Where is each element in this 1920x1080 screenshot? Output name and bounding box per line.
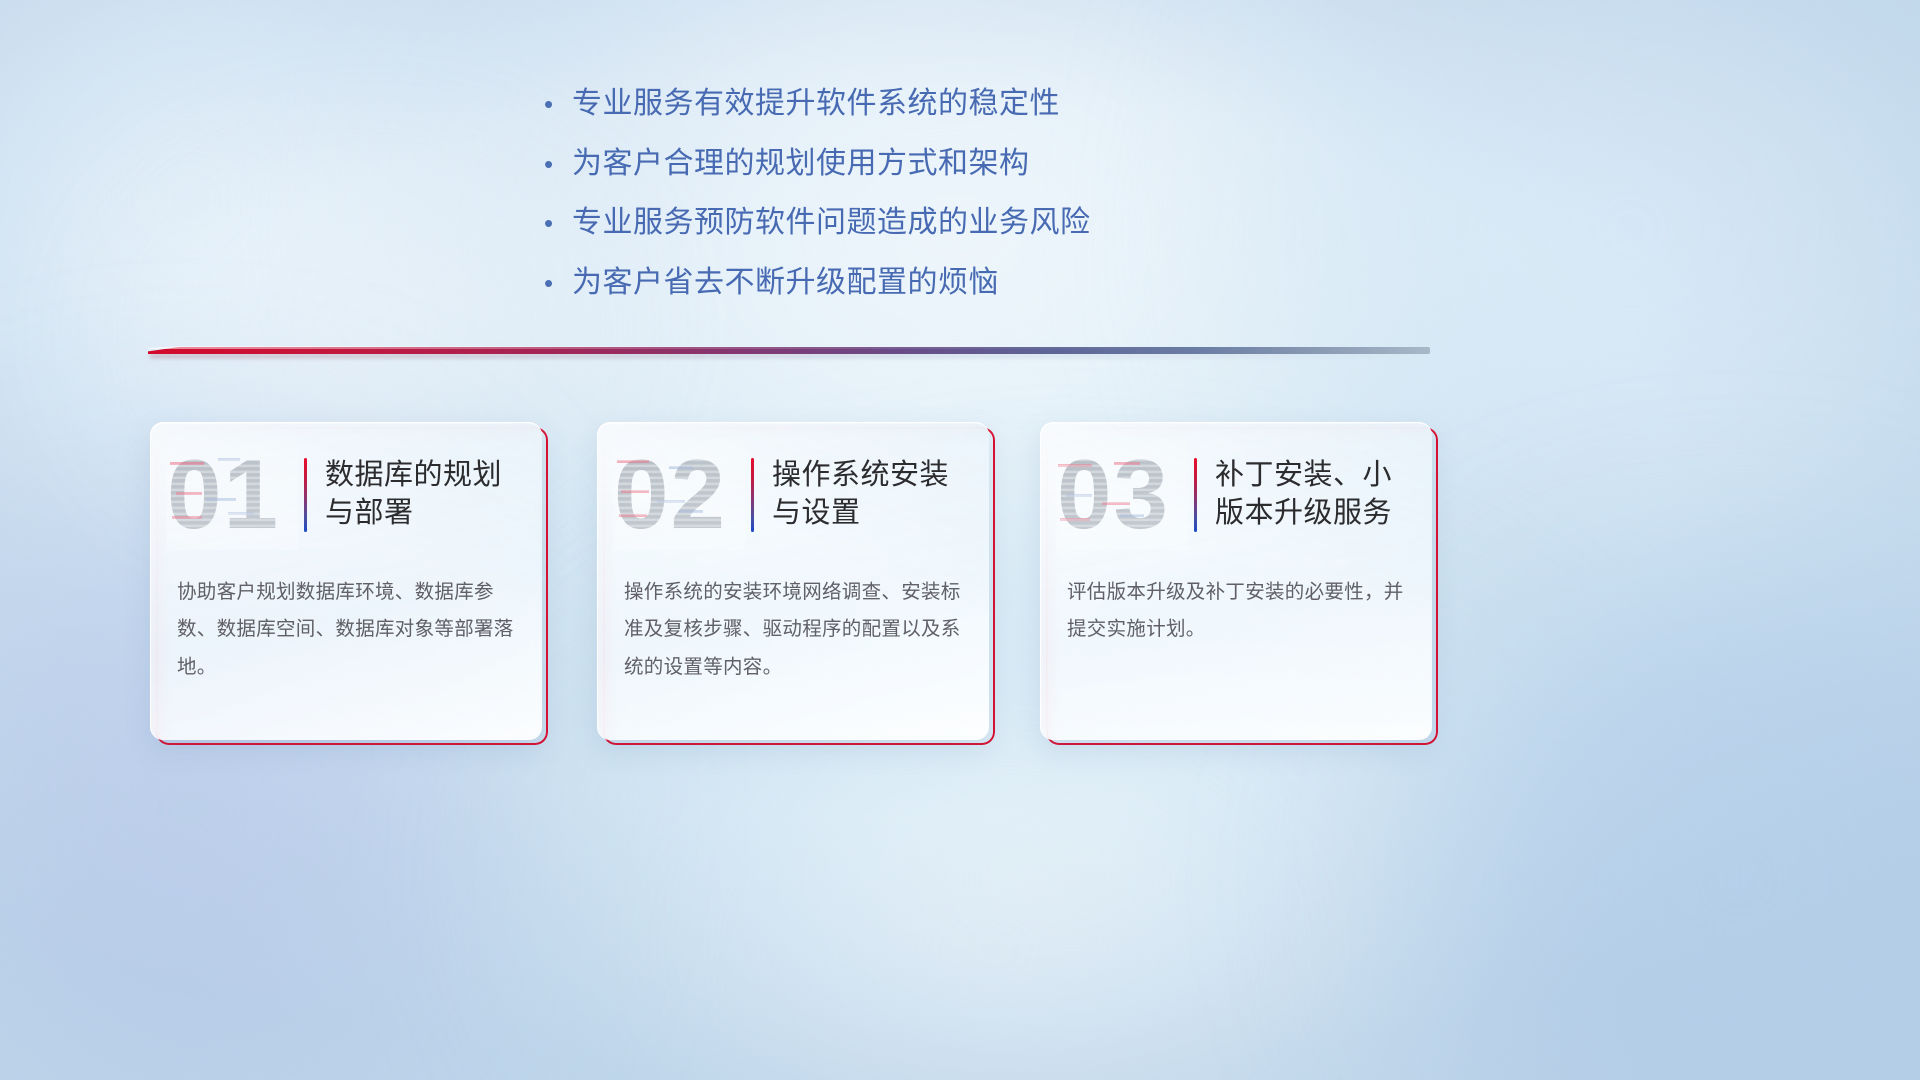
bullet-text: 为客户省去不断升级配置的烦恼 <box>572 265 999 302</box>
card-number-01-striped: 01 <box>166 440 298 550</box>
divider-shadow <box>150 354 1430 358</box>
card-description: 操作系统的安装环境网络调查、安装标准及复核步骤、驱动程序的配置以及系统的设置等内… <box>624 574 962 686</box>
bullet-dot-icon: • <box>528 151 572 177</box>
card-title-line-2: 与设置 <box>772 497 861 529</box>
slide-canvas: • 专业服务有效提升软件系统的稳定性 • 为客户合理的规划使用方式和架构 • 专… <box>0 0 1920 1080</box>
card-title: 数据库的规划 与部署 <box>325 457 502 532</box>
card-accent-bar <box>1194 458 1197 532</box>
card-title-line-1: 数据库的规划 <box>325 459 502 491</box>
list-item: • 专业服务有效提升软件系统的稳定性 <box>528 86 1428 123</box>
bullet-text: 专业服务预防软件问题造成的业务风险 <box>572 205 1091 242</box>
card-header: 01 数据库的规划 <box>150 434 542 556</box>
card-number-02-striped: 02 <box>613 440 745 550</box>
list-item: • 为客户合理的规划使用方式和架构 <box>528 146 1428 183</box>
service-card-group: 01 数据库的规划 <box>150 422 1770 752</box>
list-item: • 专业服务预防软件问题造成的业务风险 <box>528 205 1428 242</box>
card-title-line-2: 版本升级服务 <box>1215 497 1392 529</box>
service-card-01[interactable]: 01 数据库的规划 <box>150 422 542 740</box>
card-number-03-striped: 03 <box>1056 440 1188 550</box>
service-card-03[interactable]: 03 补丁安装、小 <box>1040 422 1432 740</box>
bullet-dot-icon: • <box>528 91 572 117</box>
divider-highlight <box>148 346 1430 349</box>
card-title-line-1: 操作系统安装 <box>772 459 949 491</box>
bullet-dot-icon: • <box>528 270 572 296</box>
bullet-dot-icon: • <box>528 210 572 236</box>
card-header: 03 补丁安装、小 <box>1040 434 1432 556</box>
card-title-line-2: 与部署 <box>325 497 414 529</box>
service-card-02[interactable]: 02 操作系统安装 <box>597 422 989 740</box>
card-title: 操作系统安装 与设置 <box>772 457 949 532</box>
bullet-text: 为客户合理的规划使用方式和架构 <box>572 146 1030 183</box>
card-accent-bar <box>304 458 307 532</box>
section-divider <box>148 341 1448 361</box>
bullet-text: 专业服务有效提升软件系统的稳定性 <box>572 86 1060 123</box>
benefits-bullet-list: • 专业服务有效提升软件系统的稳定性 • 为客户合理的规划使用方式和架构 • 专… <box>528 86 1428 324</box>
card-accent-bar <box>751 458 754 532</box>
card-header: 02 操作系统安装 <box>597 434 989 556</box>
card-title-line-1: 补丁安装、小 <box>1215 459 1392 491</box>
card-title: 补丁安装、小 版本升级服务 <box>1215 457 1392 532</box>
card-description: 协助客户规划数据库环境、数据库参数、数据库空间、数据库对象等部署落地。 <box>177 574 515 686</box>
list-item: • 为客户省去不断升级配置的烦恼 <box>528 265 1428 302</box>
card-description: 评估版本升级及补丁安装的必要性，并提交实施计划。 <box>1067 574 1405 649</box>
